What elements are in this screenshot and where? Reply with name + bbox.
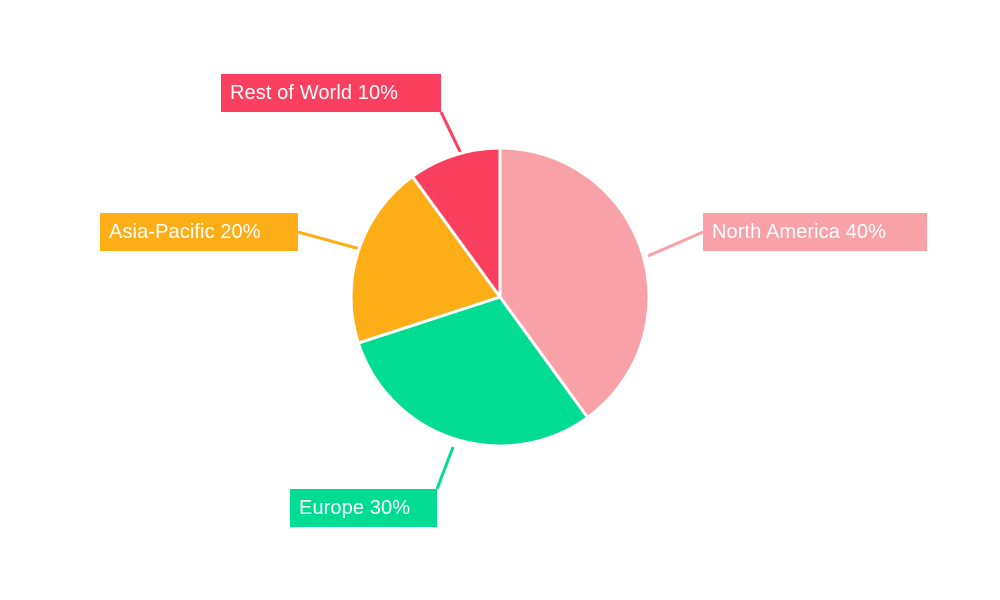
pie-chart-canvas: North America 40% Europe 30% Asia-Pacifi… [0,0,1000,600]
pie-label-asia-pacific[interactable]: Asia-Pacific 20% [100,213,298,251]
pie-leader-line [298,232,360,249]
pie-label-text: Rest of World 10% [230,83,398,103]
pie-label-text: Asia-Pacific 20% [109,222,261,242]
pie-leader-line [437,447,453,489]
pie-chart-svg [0,0,1000,600]
pie-label-north-america[interactable]: North America 40% [703,213,927,251]
pie-label-text: North America 40% [712,222,886,242]
pie-label-text: Europe 30% [299,498,410,518]
pie-slices [351,148,649,446]
pie-label-europe[interactable]: Europe 30% [290,489,437,527]
pie-leader-line [648,232,703,256]
pie-label-rest-of-world[interactable]: Rest of World 10% [221,74,441,112]
